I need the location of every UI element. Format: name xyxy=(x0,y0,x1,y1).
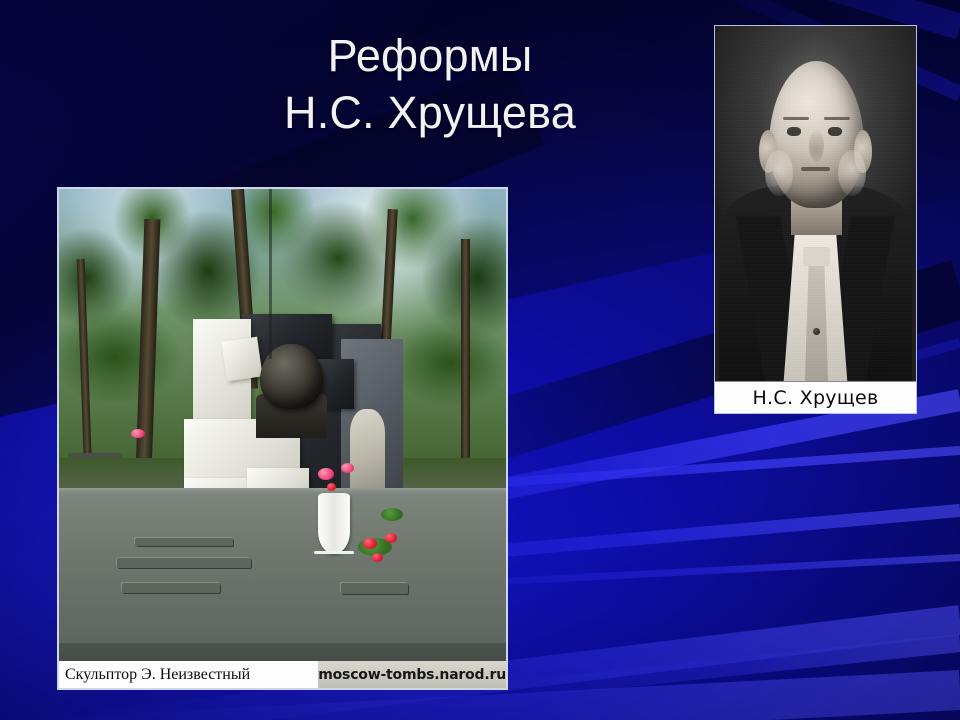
portrait-caption: Н.С. Хрущев xyxy=(715,381,916,413)
grave-slab xyxy=(57,488,508,658)
flower-vase xyxy=(318,493,349,553)
photo-watermark-strip: moscow-tombs.narod.ru xyxy=(318,661,506,688)
flower xyxy=(131,429,145,438)
background-statue xyxy=(350,409,386,499)
grave-inscription xyxy=(122,583,220,593)
portrait-film-grain xyxy=(715,26,916,413)
monument-photo: Скульптор Э. Неизвестный moscow-tombs.na… xyxy=(57,187,508,690)
portrait-photo: Н.С. Хрущев xyxy=(714,25,917,414)
tree-trunk xyxy=(461,239,470,479)
monument-white-block xyxy=(222,336,263,380)
presentation-slide: Реформы Н.С. Хрущева xyxy=(0,0,960,720)
grave-inscription xyxy=(117,558,251,568)
portrait-caption-text: Н.С. Хрущев xyxy=(752,387,878,409)
slab-seam xyxy=(269,189,272,359)
caption-text: Скульптор Э. Неизвестный xyxy=(65,666,250,684)
grave-inscription xyxy=(135,538,233,546)
slide-title: Реформы Н.С. Хрущева xyxy=(150,28,710,141)
vase-foot xyxy=(314,551,354,554)
grave-date xyxy=(341,583,408,594)
photo-caption-sculptor: Скульптор Э. Неизвестный xyxy=(59,661,318,688)
title-line-1: Реформы xyxy=(150,28,710,85)
title-line-2: Н.С. Хрущева xyxy=(150,85,710,142)
watermark-text: moscow-tombs.narod.ru xyxy=(318,667,506,683)
